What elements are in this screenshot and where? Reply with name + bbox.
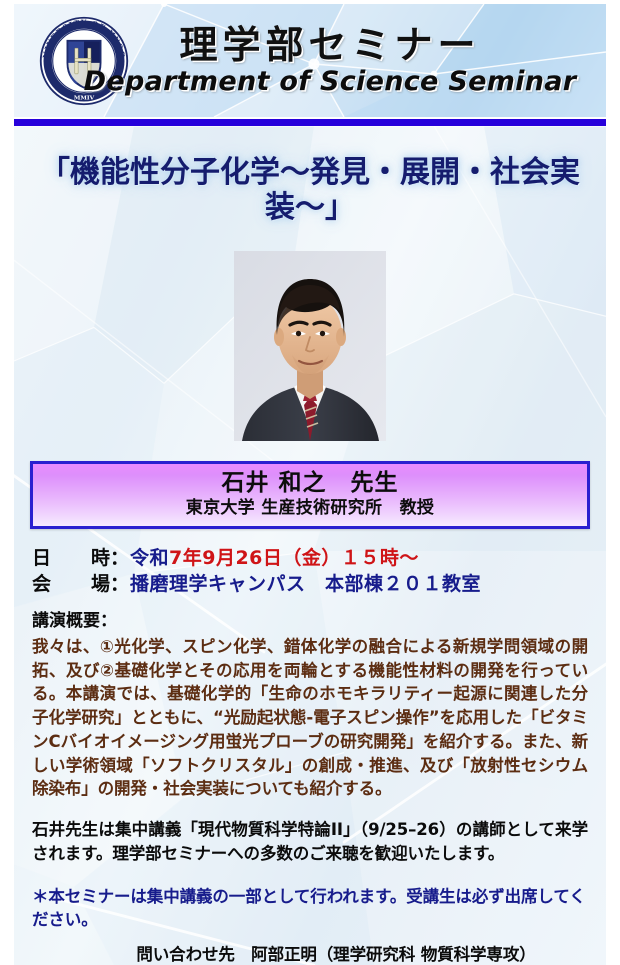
attendance-note: ＊本セミナーは集中講義の一部として行われます。受講生は必ず出席してください。	[32, 885, 588, 933]
speaker-affiliation: 東京大学 生産技術研究所 教授	[39, 498, 581, 519]
event-date-row: 日 時 ： 令和7年9月26日（金）１５時〜	[32, 545, 606, 571]
speaker-photo-row	[14, 251, 606, 445]
event-venue-row: 会 場 ： 播磨理学キャンパス 本部棟２０１教室	[32, 571, 606, 597]
poster-title-english: Department of Science Seminar	[54, 67, 606, 97]
date-colon: ：	[110, 545, 130, 571]
date-time: １５時〜	[341, 547, 419, 569]
speaker-name-box: 石井 和之 先生 東京大学 生産技術研究所 教授	[30, 461, 590, 529]
lecture-note: 石井先生は集中講義「現代物質科学特論II」（9/25–26）の講師として来学され…	[32, 818, 588, 866]
event-details: 日 時 ： 令和7年9月26日（金）１５時〜 会 場 ： 播磨理学キャンパス 本…	[32, 545, 606, 597]
poster-header: UNIVERSITY OF HYOGO MMIV 理学部セミナー	[14, 4, 606, 117]
venue-text: 播磨理学キャンパス 本部棟２０１教室	[130, 573, 481, 595]
seminar-poster: UNIVERSITY OF HYOGO MMIV 理学部セミナー	[0, 0, 620, 877]
speaker-portrait-photo	[234, 251, 386, 441]
abstract-body: 我々は、①光化学、スピン化学、錯体化学の融合による新規学問領域の開拓、及び②基礎…	[32, 635, 588, 801]
poster-title-japanese: 理学部セミナー	[54, 25, 606, 65]
abstract-heading: 講演概要：	[32, 609, 588, 635]
header-divider-rule	[14, 119, 606, 126]
venue-value: 播磨理学キャンパス 本部棟２０１教室	[130, 571, 481, 597]
date-era: 令和	[130, 547, 169, 569]
date-label-char-2: 時	[91, 545, 110, 571]
date-label-char-1: 日	[32, 545, 51, 571]
venue-colon: ：	[110, 571, 130, 597]
venue-label: 会 場	[32, 571, 110, 597]
venue-label-char-2: 場	[91, 571, 110, 597]
speaker-name: 石井 和之 先生	[39, 469, 581, 498]
venue-label-char-1: 会	[32, 571, 51, 597]
abstract-section: 講演概要： 我々は、①光化学、スピン化学、錯体化学の融合による新規学問領域の開拓…	[32, 609, 588, 965]
poster-body: 「機能性分子化学〜発見・展開・社会実装〜」	[14, 126, 606, 965]
contact-info: 問い合わせ先 阿部正明（理学研究科 物質科学専攻）	[32, 941, 588, 965]
date-main: 7年9月26日（金）	[169, 547, 341, 569]
date-value: 令和7年9月26日（金）１５時〜	[130, 545, 419, 571]
date-label: 日 時	[32, 545, 110, 571]
portrait-image	[234, 251, 386, 441]
seminar-title: 「機能性分子化学〜発見・展開・社会実装〜」	[14, 126, 606, 251]
